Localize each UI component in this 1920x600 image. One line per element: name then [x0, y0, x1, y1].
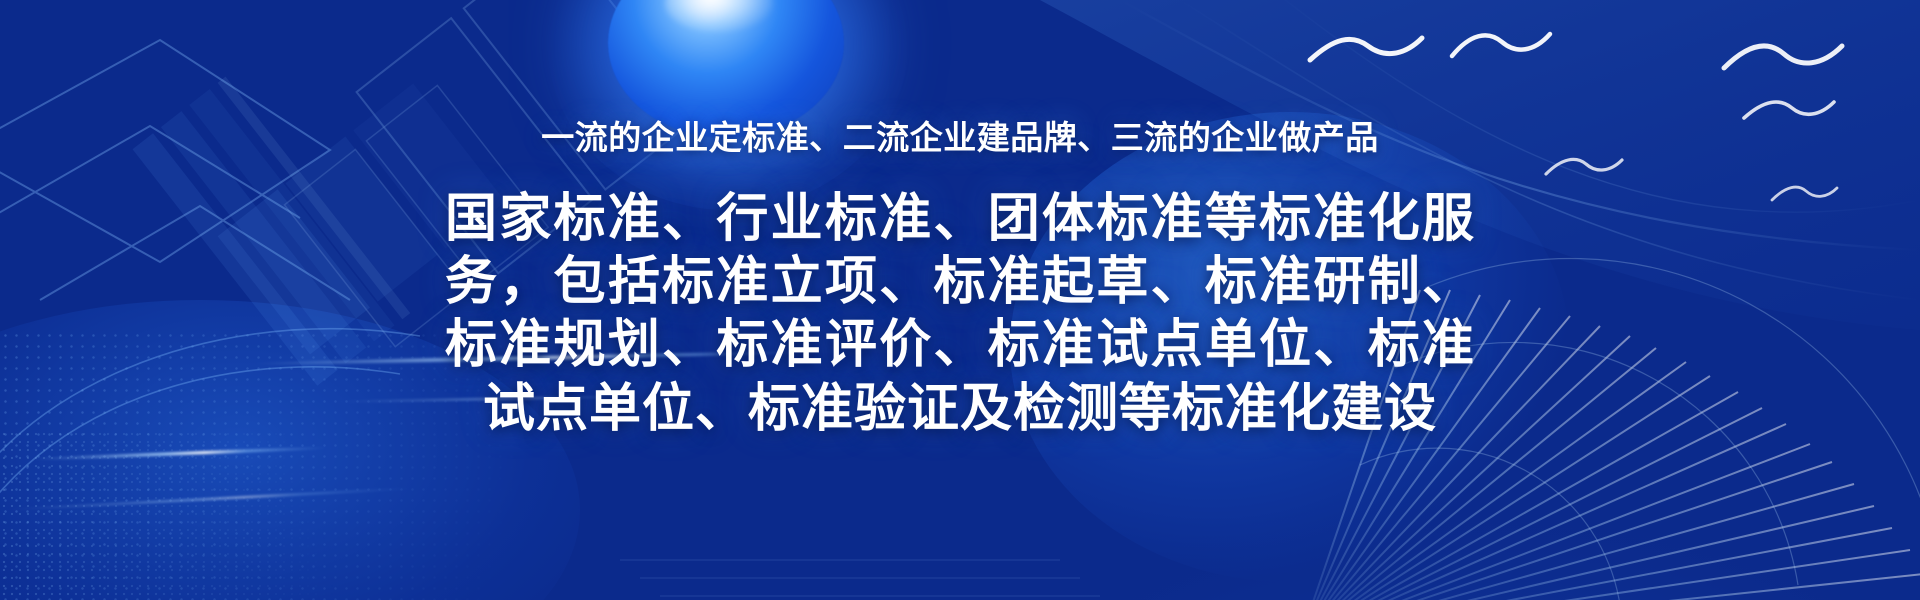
banner-content: 一流的企业定标准、二流企业建品牌、三流的企业做产品 国家标准、行业标准、团体标准… [0, 0, 1920, 600]
banner-headline: 国家标准、行业标准、团体标准等标准化服务，包括标准立项、标准起草、标准研制、标准… [445, 188, 1475, 442]
hero-banner: 一流的企业定标准、二流企业建品牌、三流的企业做产品 国家标准、行业标准、团体标准… [0, 0, 1920, 600]
banner-subtitle: 一流的企业定标准、二流企业建品牌、三流的企业做产品 [541, 118, 1379, 158]
